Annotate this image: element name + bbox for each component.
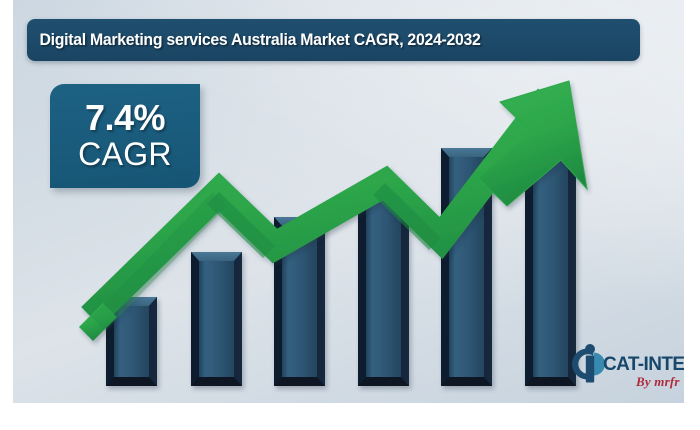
chart-title-bar: Digital Marketing services Australia Mar… [27,19,640,61]
cagr-label: CAGR [78,137,172,172]
logo-tagline: By mrfr [636,374,680,390]
cagr-value: 7.4% [85,100,165,137]
cagr-badge: 7.4% CAGR [50,84,200,188]
logo-wordmark: CAT-INTEL [603,354,684,376]
infographic-root: Digital Marketing services Australia Mar… [0,0,700,430]
brand-logo[interactable]: CAT-INTEL By mrfr [569,341,684,395]
chart-panel: Digital Marketing services Australia Mar… [13,0,684,403]
page-title: Digital Marketing services Australia Mar… [27,31,481,50]
